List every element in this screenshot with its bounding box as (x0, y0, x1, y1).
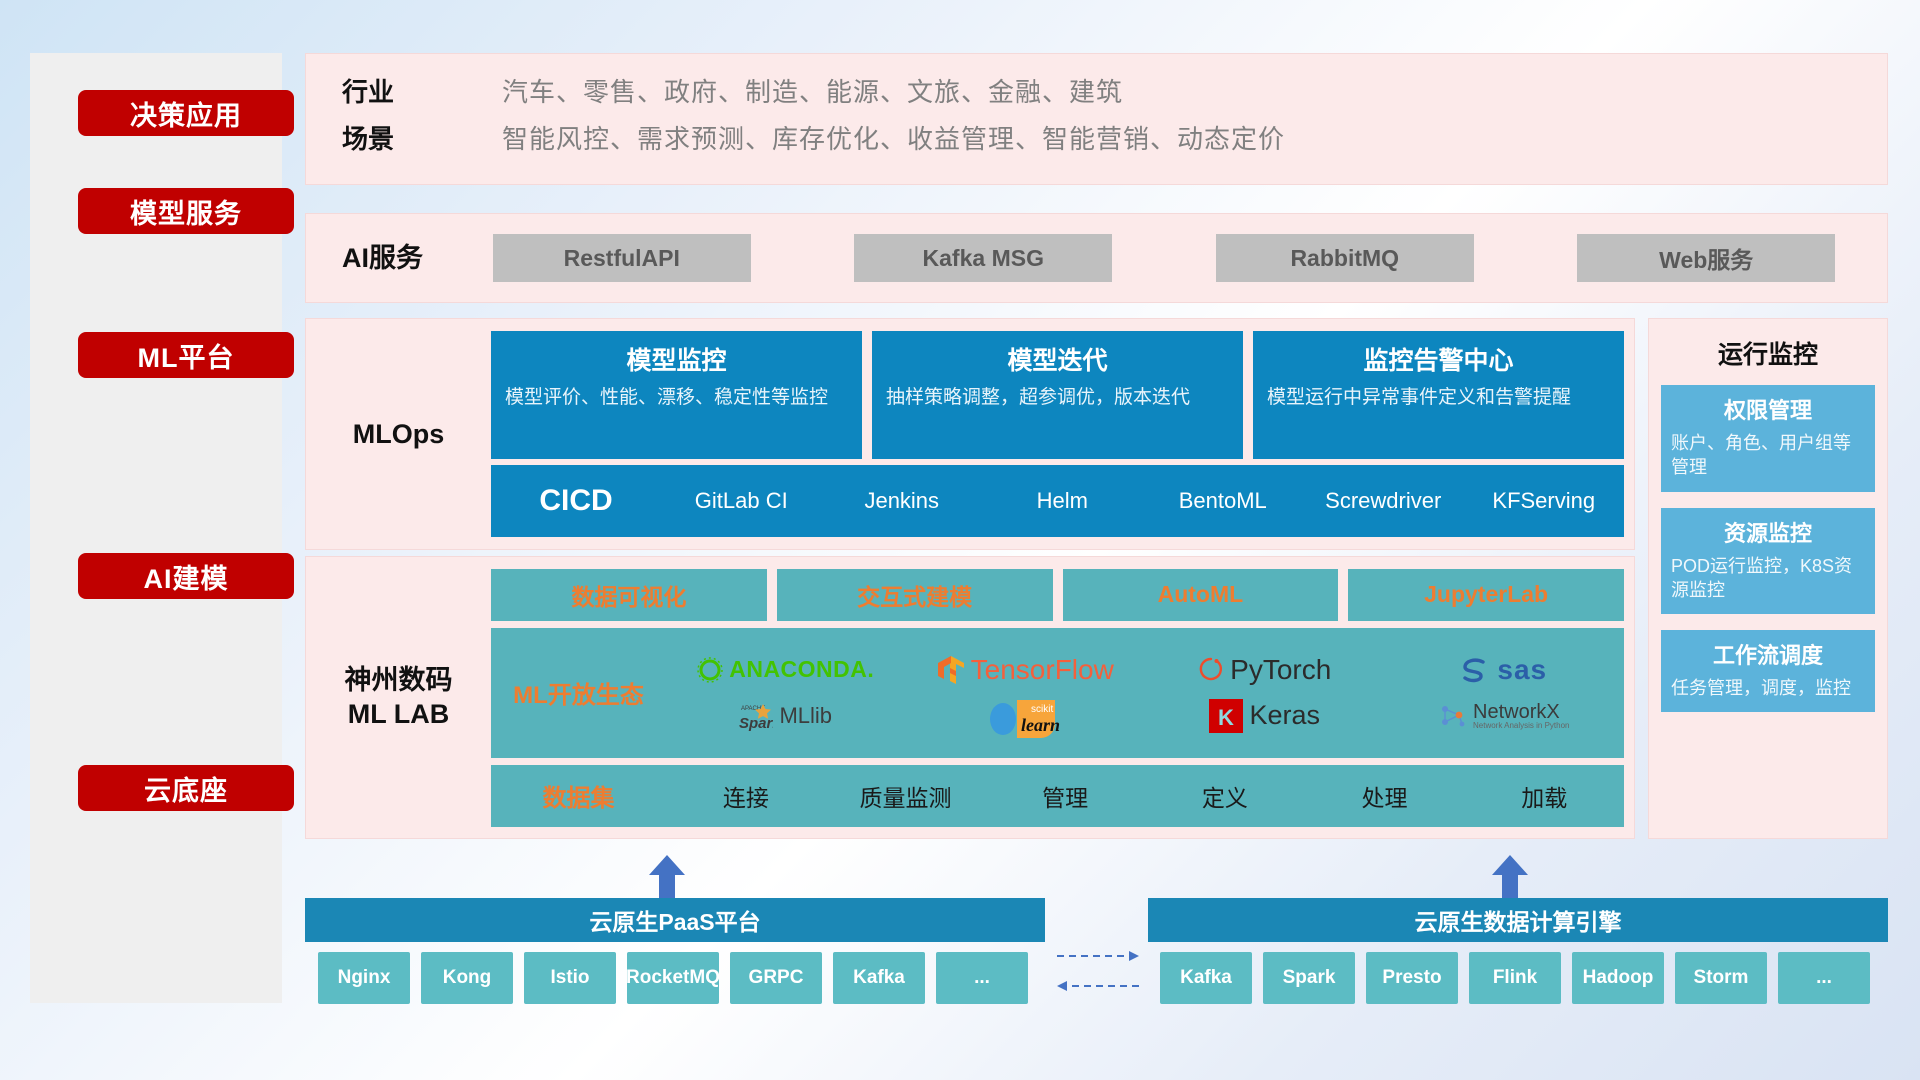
card-desc: 模型评价、性能、漂移、稳定性等监控 (505, 385, 848, 411)
pytorch-icon (1198, 656, 1224, 684)
dataset-item-process[interactable]: 处理 (1305, 779, 1465, 813)
card-title: 资源监控 (1671, 516, 1865, 548)
service-chip-web-service[interactable]: Web服务 (1577, 234, 1835, 282)
anaconda-label: ANACONDA. (729, 656, 874, 683)
rail-item-ai-modeling[interactable]: AI建模 (78, 553, 294, 599)
spark-icon: APACHE Spark (739, 701, 773, 731)
networkx-icon (1439, 702, 1467, 730)
cicd-item-gitlab-ci[interactable]: GitLab CI (661, 489, 822, 512)
up-arrow-engine-icon (1488, 855, 1532, 899)
tensorflow-label: TensorFlow (971, 654, 1114, 686)
rail-label: 云底座 (144, 769, 228, 808)
engine-chip-row: Kafka Spark Presto Flink Hadoop Storm ..… (1160, 952, 1870, 1004)
paas-chip-kong[interactable]: Kong (421, 952, 513, 1004)
tensorflow-icon (937, 655, 965, 685)
paas-chip-kafka[interactable]: Kafka (833, 952, 925, 1004)
anaconda-logo: ANACONDA. (697, 656, 874, 683)
engine-chip-kafka[interactable]: Kafka (1160, 952, 1252, 1004)
paas-chip-row: Nginx Kong Istio RocketMQ GRPC Kafka ... (318, 952, 1028, 1004)
keras-icon: K (1209, 699, 1243, 733)
rail-item-model-service[interactable]: 模型服务 (78, 188, 294, 234)
rail-label: ML平台 (138, 336, 235, 375)
networkx-tagline: Network Analysis in Python (1473, 722, 1570, 730)
monitor-card-permission[interactable]: 权限管理 账户、角色、用户组等管理 (1661, 385, 1875, 492)
paas-chip-rocketmq[interactable]: RocketMQ (627, 952, 719, 1004)
ai-service-label: AI服务 (342, 242, 423, 274)
rail-item-decision-apps[interactable]: 决策应用 (78, 90, 294, 136)
ecosystem-title: ML开放生态 (491, 675, 666, 710)
card-desc: 模型运行中异常事件定义和告警提醒 (1267, 385, 1610, 411)
industry-value: 汽车、零售、政府、制造、能源、文旅、金融、建筑 (502, 72, 1887, 109)
engine-chip-storm[interactable]: Storm (1675, 952, 1767, 1004)
mllib-label: MLlib (779, 703, 832, 729)
svg-text:Spark: Spark (739, 715, 773, 731)
engine-chip-more[interactable]: ... (1778, 952, 1870, 1004)
dataset-title: 数据集 (491, 778, 666, 813)
lab-tab-jupyterlab[interactable]: JupyterLab (1348, 569, 1624, 621)
pytorch-label: PyTorch (1230, 654, 1331, 686)
card-title: 模型监控 (505, 341, 848, 377)
ml-lab-label-line1: 神州数码 (306, 664, 491, 698)
networkx-label: NetworkX (1473, 702, 1570, 722)
card-title: 监控告警中心 (1267, 341, 1610, 377)
service-chip-rabbitmq[interactable]: RabbitMQ (1216, 234, 1474, 282)
anaconda-icon (697, 657, 723, 683)
up-arrow-paas-icon (645, 855, 689, 899)
scikit-learn-logo: scikit learn (983, 693, 1067, 739)
decision-apps-band: 行业 汽车、零售、政府、制造、能源、文旅、金融、建筑 场景 智能风控、需求预测、… (305, 53, 1888, 185)
cicd-bar: CICD GitLab CI Jenkins Helm BentoML Scre… (491, 465, 1624, 537)
industry-label: 行业 (342, 72, 502, 109)
rail-item-cloud-base[interactable]: 云底座 (78, 765, 294, 811)
dataset-item-load[interactable]: 加载 (1464, 779, 1624, 813)
monitor-card-workflow[interactable]: 工作流调度 任务管理，调度，监控 (1661, 630, 1875, 712)
card-desc: POD运行监控，K8S资源监控 (1671, 554, 1865, 603)
spark-mllib-logo: APACHE Spark MLlib (739, 701, 832, 731)
card-title: 权限管理 (1671, 393, 1865, 425)
dataset-item-manage[interactable]: 管理 (985, 779, 1145, 813)
lab-tab-interactive-modeling[interactable]: 交互式建模 (777, 569, 1053, 621)
engine-chip-flink[interactable]: Flink (1469, 952, 1561, 1004)
cicd-item-helm[interactable]: Helm (982, 489, 1143, 512)
svg-text:learn: learn (1021, 715, 1060, 735)
mlops-band: MLOps 模型监控 模型评价、性能、漂移、稳定性等监控 模型迭代 抽样策略调整… (305, 318, 1635, 550)
ai-modeling-band: 神州数码 ML LAB 数据可视化 交互式建模 AutoML JupyterLa… (305, 556, 1635, 839)
pytorch-logo: PyTorch (1198, 654, 1331, 686)
tensorflow-logo: TensorFlow (937, 654, 1114, 686)
sas-label: sas (1497, 654, 1547, 686)
svg-text:K: K (1218, 705, 1234, 730)
dataset-item-connect[interactable]: 连接 (666, 779, 826, 813)
scikit-learn-icon: scikit learn (983, 693, 1067, 739)
keras-label: Keras (1249, 700, 1320, 731)
service-chip-restfulapi[interactable]: RestfulAPI (493, 234, 751, 282)
engine-chip-presto[interactable]: Presto (1366, 952, 1458, 1004)
mlops-card-alert-center[interactable]: 监控告警中心 模型运行中异常事件定义和告警提醒 (1253, 331, 1624, 459)
service-chip-kafka-msg[interactable]: Kafka MSG (854, 234, 1112, 282)
cloud-engine-bar[interactable]: 云原生数据计算引擎 (1148, 898, 1888, 942)
cicd-item-bentoml[interactable]: BentoML (1143, 489, 1304, 512)
cicd-item-jenkins[interactable]: Jenkins (822, 489, 983, 512)
svg-text:scikit: scikit (1031, 704, 1053, 715)
mlops-card-model-iteration[interactable]: 模型迭代 抽样策略调整，超参调优，版本迭代 (872, 331, 1243, 459)
sas-icon (1461, 657, 1491, 683)
cicd-item-screwdriver[interactable]: Screwdriver (1303, 489, 1464, 512)
lab-tab-data-visualization[interactable]: 数据可视化 (491, 569, 767, 621)
architecture-diagram: 决策应用 模型服务 ML平台 AI建模 云底座 行业 汽车、零售、政府、制造、能… (0, 0, 1920, 1080)
runtime-monitoring-panel: 运行监控 权限管理 账户、角色、用户组等管理 资源监控 POD运行监控，K8S资… (1648, 318, 1888, 839)
ai-service-band: AI服务 RestfulAPI Kafka MSG RabbitMQ Web服务 (305, 213, 1888, 303)
scenario-value: 智能风控、需求预测、库存优化、收益管理、智能营销、动态定价 (502, 119, 1887, 156)
layer-rail: 决策应用 模型服务 ML平台 AI建模 云底座 (30, 53, 282, 1003)
card-title: 工作流调度 (1671, 638, 1865, 670)
lab-tab-automl[interactable]: AutoML (1063, 569, 1339, 621)
monitor-card-resource[interactable]: 资源监控 POD运行监控，K8S资源监控 (1661, 508, 1875, 615)
engine-chip-hadoop[interactable]: Hadoop (1572, 952, 1664, 1004)
rail-item-ml-platform[interactable]: ML平台 (78, 332, 294, 378)
ml-open-ecosystem: ML开放生态 ANACONDA. (491, 628, 1624, 758)
card-desc: 账户、角色、用户组等管理 (1671, 431, 1865, 480)
engine-chip-spark[interactable]: Spark (1263, 952, 1355, 1004)
cicd-item-kfserving[interactable]: KFServing (1464, 489, 1625, 512)
dataset-bar: 数据集 连接 质量监测 管理 定义 处理 加载 (491, 765, 1624, 827)
rail-label: AI建模 (144, 557, 229, 596)
monitoring-title: 运行监控 (1661, 335, 1875, 371)
rail-label: 决策应用 (130, 94, 242, 133)
bidirectional-dashed-arrows-icon (1055, 940, 1141, 1000)
keras-logo: K Keras (1209, 699, 1320, 733)
dataset-item-quality[interactable]: 质量监测 (826, 779, 986, 813)
dataset-item-define[interactable]: 定义 (1145, 779, 1305, 813)
paas-chip-nginx[interactable]: Nginx (318, 952, 410, 1004)
ml-lab-label-line2: ML LAB (306, 698, 491, 732)
mlops-label: MLOps (306, 418, 491, 450)
paas-chip-istio[interactable]: Istio (524, 952, 616, 1004)
mlops-card-model-monitoring[interactable]: 模型监控 模型评价、性能、漂移、稳定性等监控 (491, 331, 862, 459)
scenario-label: 场景 (342, 119, 502, 156)
sas-logo: sas (1461, 654, 1547, 686)
rail-label: 模型服务 (130, 192, 242, 231)
card-title: 模型迭代 (886, 341, 1229, 377)
card-desc: 抽样策略调整，超参调优，版本迭代 (886, 385, 1229, 411)
card-desc: 任务管理，调度，监控 (1671, 676, 1865, 700)
cloud-paas-bar[interactable]: 云原生PaaS平台 (305, 898, 1045, 942)
cicd-title: CICD (491, 484, 661, 518)
paas-chip-more[interactable]: ... (936, 952, 1028, 1004)
ml-lab-label: 神州数码 ML LAB (306, 664, 491, 732)
paas-chip-grpc[interactable]: GRPC (730, 952, 822, 1004)
networkx-logo: NetworkX Network Analysis in Python (1439, 702, 1570, 730)
